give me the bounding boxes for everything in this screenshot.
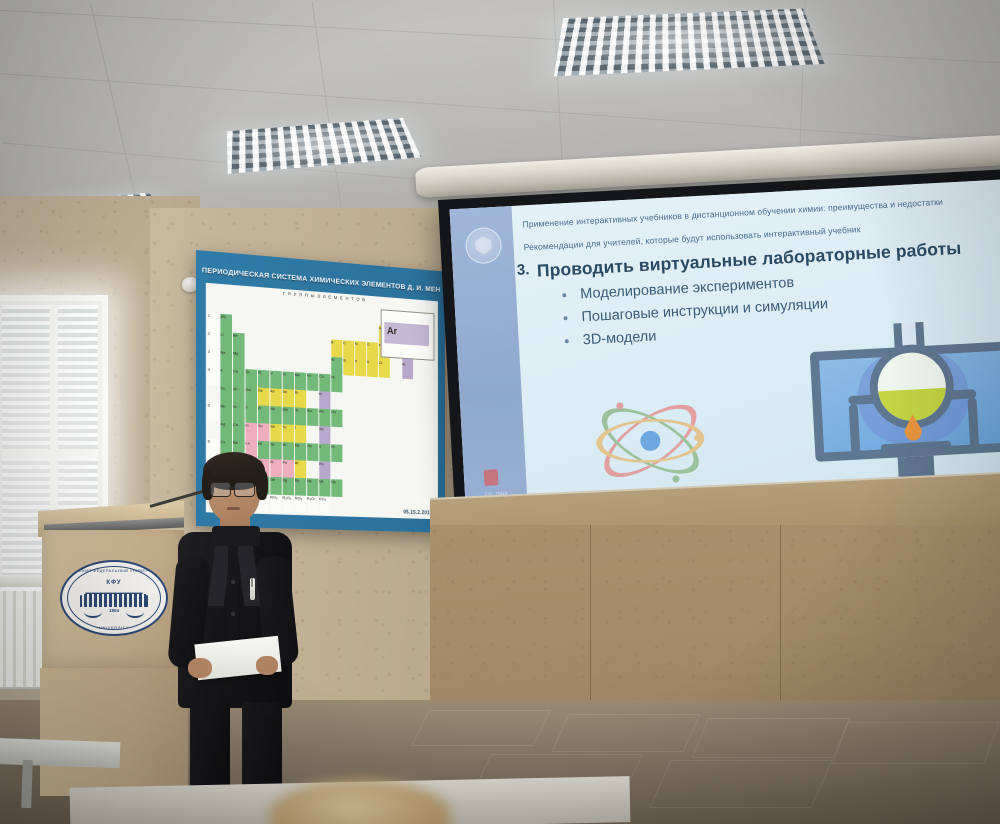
empty-cell [414, 380, 425, 397]
empty-cell [425, 415, 436, 432]
empty-cell [295, 337, 307, 355]
empty-cell [295, 319, 307, 337]
empty-cell [367, 446, 378, 463]
seal-initials: КФУ [62, 580, 166, 586]
empty-cell [425, 432, 436, 449]
element-cell: Cd [233, 422, 245, 440]
empty-cell [425, 466, 436, 483]
empty-cell [283, 318, 295, 336]
empty-cell [425, 363, 436, 380]
empty-cell [270, 335, 282, 353]
empty-cell [367, 307, 378, 325]
empty-cell [208, 385, 220, 403]
empty-cell [208, 295, 220, 313]
empty-cell [331, 427, 343, 445]
empty-cell [283, 301, 295, 319]
empty-cell [355, 480, 366, 497]
element-cell: Rh [319, 409, 331, 427]
poster-element-inset: Ar [381, 309, 435, 361]
slide-item-number: 3. [516, 261, 529, 279]
element-cell: Br [295, 390, 307, 408]
desk-left [0, 738, 120, 769]
empty-cell [367, 325, 378, 343]
empty-cell [379, 377, 390, 395]
element-cell: Rn [319, 462, 331, 480]
empty-cell [414, 397, 425, 414]
seal-laurel-right-icon [126, 606, 144, 618]
element-cell: Sc [245, 369, 257, 387]
empty-cell [367, 498, 378, 515]
empty-cell [367, 481, 378, 498]
empty-cell [367, 464, 378, 481]
element-cell: As [270, 388, 282, 406]
presenter-hand-left [188, 658, 212, 678]
empty-cell [270, 300, 282, 318]
empty-cell [307, 391, 319, 409]
element-cell: I [295, 425, 307, 443]
element-cell: Cr [283, 371, 295, 389]
empty-cell [367, 411, 378, 428]
empty-cell [390, 395, 401, 412]
empty-cell [425, 380, 436, 397]
empty-cell [319, 321, 331, 339]
empty-cell [343, 428, 354, 446]
empty-cell [208, 421, 220, 439]
element-cell: O [367, 342, 378, 360]
empty-cell [390, 430, 401, 447]
empty-cell [402, 482, 413, 499]
element-cell: Tc [295, 408, 307, 426]
empty-cell [331, 304, 343, 322]
element-cell: Ir [319, 444, 331, 462]
element-cell: S [367, 359, 378, 377]
desk-leg [21, 760, 33, 808]
empty-cell [319, 339, 331, 357]
empty-cell [414, 483, 425, 500]
element-cell: Be [233, 333, 245, 351]
empty-cell [258, 299, 270, 317]
empty-cell [355, 324, 366, 342]
element-cell: Li [220, 332, 232, 350]
element-cell: Zn [233, 386, 245, 404]
button-icon [231, 580, 235, 584]
floor-tile [832, 722, 999, 764]
empty-cell [343, 393, 354, 411]
element-cell: (H) [220, 314, 232, 332]
element-cell: Ge [258, 388, 270, 406]
element-cell: Si [343, 358, 354, 376]
empty-cell [295, 302, 307, 320]
element-cell: Te [283, 425, 295, 443]
empty-cell [307, 303, 319, 321]
empty-cell [220, 296, 232, 314]
empty-cell [343, 498, 354, 515]
element-cell: Mt [319, 479, 331, 496]
element-cell: R₂O₇ [307, 496, 319, 513]
empty-cell [402, 431, 413, 448]
empty-cell [414, 466, 425, 483]
empty-cell [379, 464, 390, 481]
empty-cell [379, 447, 390, 464]
empty-cell [379, 412, 390, 429]
element-cell: 5 [208, 403, 220, 421]
empty-cell [343, 463, 354, 480]
element-cell: Ga [245, 387, 257, 405]
empty-cell [331, 462, 343, 479]
empty-cell [343, 323, 354, 341]
shirt-collar [212, 526, 260, 546]
empty-cell [270, 353, 282, 371]
seal-top-text: КАЗАНСКИЙ ФЕДЕРАЛЬНЫЙ УНИВЕРСИТЕТ [62, 568, 166, 573]
inset-symbol: Ar [387, 326, 397, 337]
empty-cell [367, 377, 378, 395]
empty-cell [390, 499, 401, 516]
element-cell: Cu [220, 386, 232, 404]
empty-cell [379, 499, 390, 516]
button-icon [231, 612, 235, 616]
element-cell: Mn [295, 372, 307, 390]
atom-electron [672, 475, 679, 482]
element-cell: In [245, 423, 257, 441]
element-cell: Pt [331, 445, 343, 463]
floor-tile [411, 710, 551, 746]
seal-bottom-text: UNIVERSITY [62, 625, 166, 630]
empty-cell [307, 320, 319, 338]
empty-cell [233, 297, 245, 315]
glasses-lens-right-icon [234, 482, 255, 497]
empty-cell [390, 413, 401, 430]
element-cell: RO₄ [319, 497, 331, 514]
element-cell: Y [245, 405, 257, 423]
seal-laurel-left-icon [84, 606, 102, 618]
element-cell: Se [283, 389, 295, 407]
lecture-room-photo: ПЕРИОДИЧЕСКАЯ СИСТЕМА ХИМИЧЕСКИХ ЭЛЕМЕНТ… [0, 0, 1000, 824]
empty-cell [379, 481, 390, 498]
floor-tile [649, 760, 832, 808]
element-cell: Ds [331, 480, 343, 497]
element-cell: Ru [307, 408, 319, 426]
element-cell: V [270, 371, 282, 389]
empty-cell [425, 449, 436, 466]
empty-cell [258, 352, 270, 370]
presenter-hand-right [256, 656, 278, 675]
empty-cell [245, 316, 257, 334]
poster-date-stamp: 05.15.2.2017 [403, 510, 432, 517]
empty-cell [379, 429, 390, 446]
empty-cell [355, 393, 366, 411]
empty-cell [343, 410, 354, 428]
element-cell: Ar [402, 362, 413, 379]
empty-cell [355, 428, 366, 445]
empty-cell [307, 426, 319, 444]
empty-cell [283, 354, 295, 372]
atom-icon [593, 384, 707, 498]
empty-cell [402, 396, 413, 413]
empty-cell [245, 298, 257, 316]
shirt-placket [228, 544, 238, 654]
empty-cell [355, 411, 366, 429]
empty-cell [331, 497, 343, 514]
empty-cell [343, 375, 354, 393]
empty-cell [245, 351, 257, 369]
empty-cell [367, 429, 378, 446]
empty-cell [319, 356, 331, 374]
empty-cell [355, 498, 366, 515]
element-cell: B [331, 339, 343, 357]
presenter-mouth [227, 507, 240, 510]
empty-cell [355, 306, 366, 324]
floor-tile [692, 718, 850, 758]
element-cell: Xe [319, 426, 331, 444]
empty-cell [402, 413, 413, 430]
presenter-hair-side [256, 470, 268, 500]
sidebar-mark-red-icon [484, 469, 499, 486]
empty-cell [390, 361, 401, 379]
element-cell: Nb [270, 406, 282, 424]
element-cell: Na [220, 350, 232, 368]
podium-base [40, 668, 188, 796]
element-cell: Al [331, 357, 343, 375]
empty-cell [283, 336, 295, 354]
empty-cell [331, 392, 343, 410]
element-cell: Sr [233, 404, 245, 422]
element-cell: Ag [220, 421, 232, 439]
empty-cell [307, 355, 319, 373]
element-cell: 2 [208, 331, 220, 349]
element-cell: Ca [233, 368, 245, 386]
empty-cell [270, 317, 282, 335]
element-cell: K [220, 368, 232, 386]
empty-cell [414, 448, 425, 465]
element-cell: Pd [331, 410, 343, 428]
empty-cell [402, 465, 413, 482]
element-cell: 3 [208, 349, 220, 367]
empty-cell [390, 482, 401, 499]
empty-cell [414, 414, 425, 431]
empty-cell [258, 317, 270, 335]
empty-cell [245, 334, 257, 352]
empty-cell [343, 480, 354, 497]
element-cell: Os [307, 443, 319, 461]
empty-cell [414, 431, 425, 448]
glasses-bridge-icon [229, 487, 234, 489]
empty-cell [343, 445, 354, 462]
element-cell: N [355, 341, 366, 359]
empty-cell [414, 362, 425, 379]
glasses-lens-left-icon [210, 482, 231, 497]
presenter [172, 452, 300, 824]
empty-cell [233, 315, 245, 333]
empty-cell [390, 378, 401, 395]
element-cell: 4 [208, 367, 220, 385]
empty-cell [295, 355, 307, 373]
presenter-brow-right [235, 478, 252, 481]
seal-year: 1804 [62, 608, 166, 613]
empty-cell [425, 397, 436, 414]
empty-cell [367, 394, 378, 411]
element-cell: Hs [307, 479, 319, 497]
empty-cell [355, 376, 366, 394]
element-cell: Sb [270, 424, 282, 442]
element-cell: Fe [307, 373, 319, 391]
empty-cell [343, 305, 354, 323]
empty-cell [402, 448, 413, 465]
empty-cell [331, 322, 343, 340]
element-cell: Mg [233, 351, 245, 369]
element-cell: Cl [379, 360, 390, 378]
empty-cell [307, 461, 319, 479]
empty-cell [307, 338, 319, 356]
pen-clip-icon [251, 578, 253, 587]
element-cell: C [343, 340, 354, 358]
university-crest-watermark-icon [465, 227, 503, 265]
element-cell: Rb [220, 404, 232, 422]
element-cell: Ti [258, 370, 270, 388]
element-cell: Mo [283, 407, 295, 425]
element-cell: Zr [258, 406, 270, 424]
element-cell: P [355, 359, 366, 377]
empty-cell [402, 379, 413, 396]
element-cell: Co [319, 374, 331, 392]
empty-cell [379, 395, 390, 412]
element-cell: Sn [258, 423, 270, 441]
element-cell: Ni [331, 374, 343, 392]
element-cell: 1 [208, 313, 220, 331]
empty-cell [355, 463, 366, 480]
empty-cell [390, 447, 401, 464]
empty-cell [319, 304, 331, 322]
floor-tile [552, 714, 701, 752]
empty-cell [390, 465, 401, 482]
podium-seal: КАЗАНСКИЙ ФЕДЕРАЛЬНЫЙ УНИВЕРСИТЕТ КФУ 18… [60, 560, 168, 636]
presenter-brow-left [211, 478, 228, 481]
element-cell: Kr [319, 391, 331, 409]
empty-cell [355, 446, 366, 463]
empty-cell [258, 334, 270, 352]
